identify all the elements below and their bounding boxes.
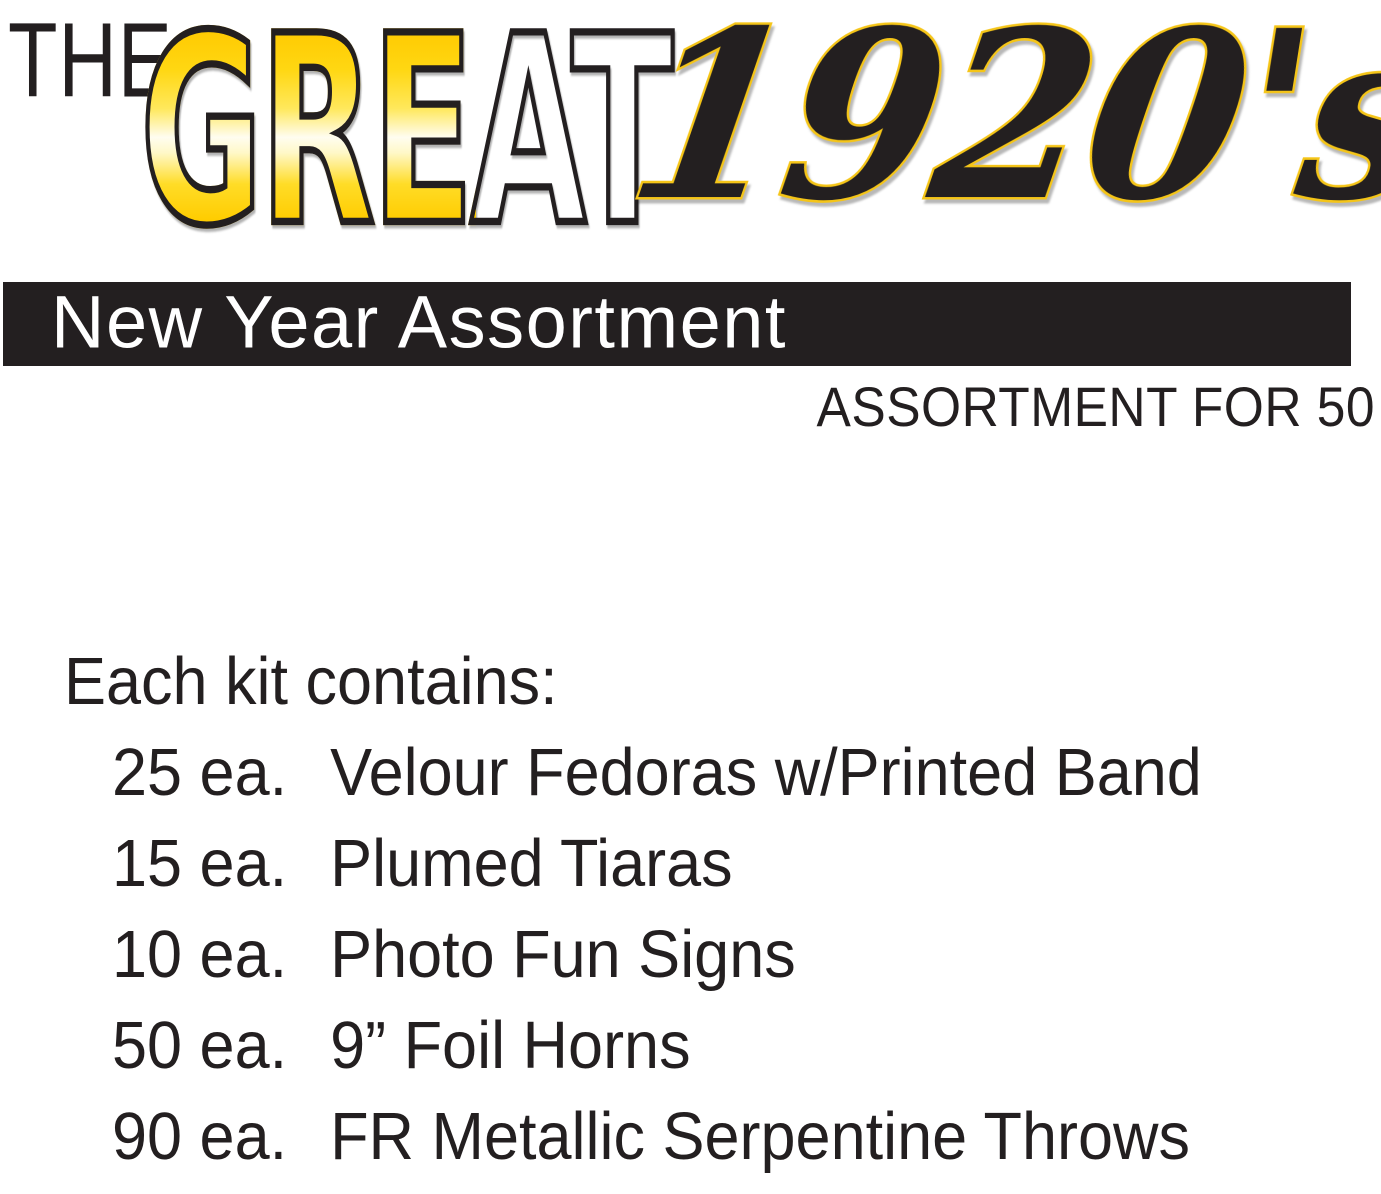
logo-word-great-wrapper: GREAT <box>140 2 700 272</box>
kit-list-item: 25 ea.Velour Fedoras w/Printed Band <box>112 739 1202 830</box>
kit-item-quantity: 50 ea. <box>112 1012 330 1079</box>
logo-word-great: GREAT <box>140 2 476 262</box>
kit-contents-list: 25 ea.Velour Fedoras w/Printed Band15 ea… <box>112 739 1271 1194</box>
kit-list-item: 50 ea.9” Foil Horns <box>112 1012 1202 1103</box>
new-year-assortment-banner: New Year Assortment <box>3 282 1351 366</box>
kit-list-item: 10 ea.Photo Fun Signs <box>112 921 1202 1012</box>
banner-title: New Year Assortment <box>51 286 787 360</box>
logo-word-year-wrapper: 1920's <box>655 0 1381 275</box>
kit-item-quantity: 10 ea. <box>112 921 330 988</box>
kit-list-item: 15 ea.Plumed Tiaras <box>112 830 1202 921</box>
kit-item-name: 9” Foil Horns <box>330 1012 1202 1079</box>
kit-contents-heading: Each kit contains: <box>64 648 558 715</box>
kit-item-name: Plumed Tiaras <box>330 830 1202 897</box>
kit-item-quantity: 90 ea. <box>112 1103 330 1170</box>
kit-item-name: Photo Fun Signs <box>330 921 1202 988</box>
kit-item-quantity: 15 ea. <box>112 830 330 897</box>
kit-list-item: 90 ea.FR Metallic Serpentine Throws <box>112 1103 1202 1194</box>
kit-item-quantity: 25 ea. <box>112 739 330 806</box>
kit-item-name: Velour Fedoras w/Printed Band <box>330 739 1202 806</box>
logo-word-year: 1920's <box>618 0 1352 232</box>
kit-item-name: FR Metallic Serpentine Throws <box>330 1103 1202 1170</box>
assortment-for-label: ASSORTMENT FOR 50 <box>817 378 1375 436</box>
